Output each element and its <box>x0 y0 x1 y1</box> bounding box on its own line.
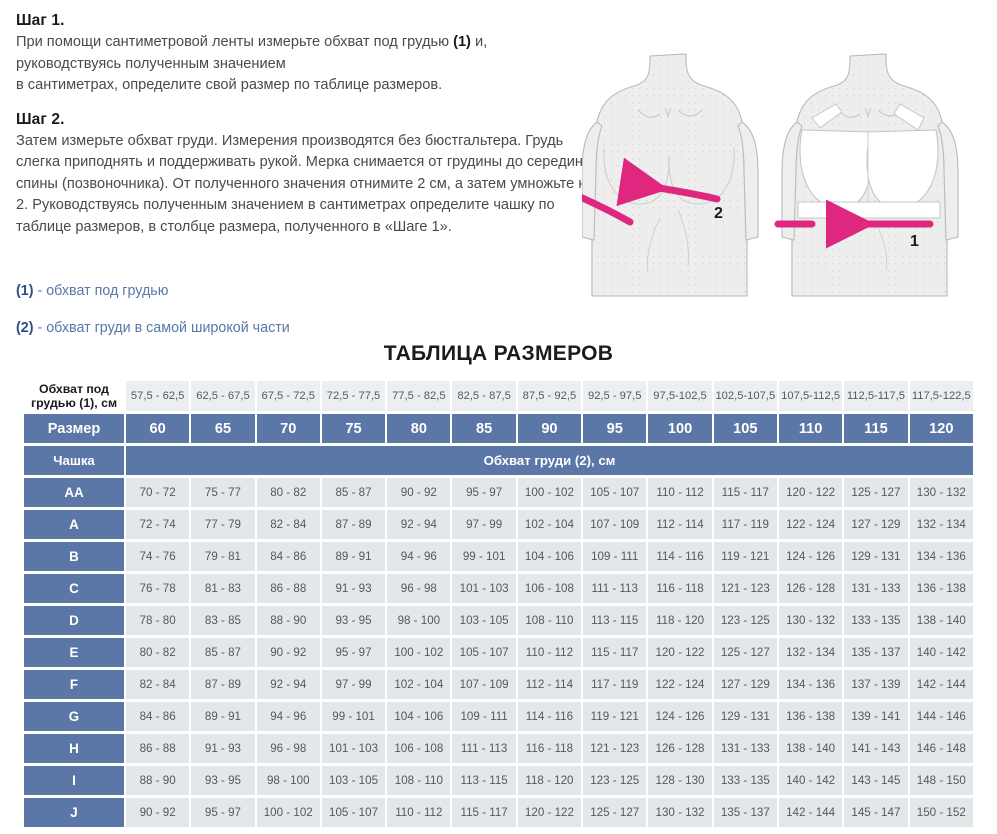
instruction-area: Шаг 1. При помощи сантиметровой ленты из… <box>0 0 997 340</box>
bust-range-cell: 92 - 94 <box>257 670 320 699</box>
bust-range-cell: 130 - 132 <box>779 606 842 635</box>
bust-range-cell: 116 - 118 <box>648 574 711 603</box>
cup-label-cell: C <box>24 574 124 603</box>
bust-range-cell: 126 - 128 <box>779 574 842 603</box>
size-cell: 115 <box>844 414 907 443</box>
table-row: J90 - 9295 - 97100 - 102105 - 107110 - 1… <box>24 798 973 827</box>
bust-range-cell: 106 - 108 <box>387 734 450 763</box>
bust-range-cell: 148 - 150 <box>910 766 973 795</box>
cup-header-label: Чашка <box>24 446 124 475</box>
row-sizes: Размер 60 65 70 75 80 85 90 95 100 105 1… <box>24 414 973 443</box>
bust-range-cell: 82 - 84 <box>257 510 320 539</box>
underbust-range-cell: 97,5-102,5 <box>648 381 711 411</box>
bust-range-cell: 129 - 131 <box>714 702 777 731</box>
bust-range-cell: 97 - 99 <box>452 510 515 539</box>
size-cell: 90 <box>518 414 581 443</box>
bust-range-cell: 141 - 143 <box>844 734 907 763</box>
bust-range-cell: 136 - 138 <box>910 574 973 603</box>
bust-range-cell: 96 - 98 <box>387 574 450 603</box>
bust-range-cell: 111 - 113 <box>452 734 515 763</box>
step-1-title: Шаг 1. <box>16 12 596 30</box>
bust-range-cell: 95 - 97 <box>191 798 254 827</box>
bust-range-cell: 93 - 95 <box>191 766 254 795</box>
bust-range-cell: 122 - 124 <box>648 670 711 699</box>
bust-range-cell: 131 - 133 <box>714 734 777 763</box>
bust-range-cell: 98 - 100 <box>257 766 320 795</box>
bust-range-cell: 101 - 103 <box>452 574 515 603</box>
bust-range-cell: 134 - 136 <box>910 542 973 571</box>
bust-range-cell: 105 - 107 <box>452 638 515 667</box>
step-1-line-1a: При помощи сантиметровой ленты измерьте … <box>16 34 453 50</box>
figure-bra-torso: 1 <box>778 54 958 296</box>
bust-range-cell: 128 - 130 <box>648 766 711 795</box>
figure-right-label: 1 <box>910 233 919 250</box>
bust-range-cell: 91 - 93 <box>191 734 254 763</box>
bust-range-cell: 136 - 138 <box>779 702 842 731</box>
bust-range-cell: 129 - 131 <box>844 542 907 571</box>
step-1-line-1b: и, <box>471 34 487 50</box>
bust-range-cell: 86 - 88 <box>126 734 189 763</box>
bust-range-cell: 85 - 87 <box>322 478 385 507</box>
bust-range-cell: 127 - 129 <box>714 670 777 699</box>
table-row: C76 - 7881 - 8386 - 8891 - 9396 - 98101 … <box>24 574 973 603</box>
bust-range-cell: 90 - 92 <box>387 478 450 507</box>
legend-block: (1) - обхват под грудью (2) - обхват гру… <box>16 283 576 357</box>
bust-range-cell: 132 - 134 <box>910 510 973 539</box>
bust-range-cell: 95 - 97 <box>452 478 515 507</box>
bust-range-cell: 86 - 88 <box>257 574 320 603</box>
underbust-range-cell: 72,5 - 77,5 <box>322 381 385 411</box>
legend-text-2: - обхват груди в самой широкой части <box>33 320 289 336</box>
size-cell: 120 <box>910 414 973 443</box>
bust-range-cell: 114 - 116 <box>518 702 581 731</box>
underbust-range-cell: 117,5-122,5 <box>910 381 973 411</box>
bust-range-cell: 143 - 145 <box>844 766 907 795</box>
bust-range-cell: 133 - 135 <box>844 606 907 635</box>
cup-label-cell: F <box>24 670 124 699</box>
bust-range-cell: 119 - 121 <box>714 542 777 571</box>
bust-range-cell: 138 - 140 <box>779 734 842 763</box>
bust-range-cell: 92 - 94 <box>387 510 450 539</box>
table-row: F82 - 8487 - 8992 - 9497 - 99102 - 10410… <box>24 670 973 699</box>
bust-range-cell: 81 - 83 <box>191 574 254 603</box>
row-bust-span: Чашка Обхват груди (2), см <box>24 446 973 475</box>
bust-range-cell: 100 - 102 <box>387 638 450 667</box>
legend-item-2: (2) - обхват груди в самой широкой части <box>16 320 576 336</box>
bust-range-cell: 93 - 95 <box>322 606 385 635</box>
bust-range-cell: 124 - 126 <box>779 542 842 571</box>
bust-range-cell: 80 - 82 <box>126 638 189 667</box>
bust-range-cell: 109 - 111 <box>452 702 515 731</box>
bust-range-cell: 89 - 91 <box>322 542 385 571</box>
cup-label-cell: I <box>24 766 124 795</box>
bust-range-cell: 134 - 136 <box>779 670 842 699</box>
bust-range-cell: 118 - 120 <box>518 766 581 795</box>
size-cell: 105 <box>714 414 777 443</box>
bust-range-cell: 102 - 104 <box>518 510 581 539</box>
table-row: AA70 - 7275 - 7780 - 8285 - 8790 - 9295 … <box>24 478 973 507</box>
bust-range-cell: 113 - 115 <box>583 606 646 635</box>
table-row: I88 - 9093 - 9598 - 100103 - 105108 - 11… <box>24 766 973 795</box>
table-row: H86 - 8891 - 9396 - 98101 - 103106 - 108… <box>24 734 973 763</box>
legend-item-1: (1) - обхват под грудью <box>16 283 576 299</box>
bust-range-cell: 107 - 109 <box>452 670 515 699</box>
step-2-block: Шаг 2. Затем измерьте обхват груди. Изме… <box>16 111 596 239</box>
step-1-line-3: в сантиметрах, определите свой размер по… <box>16 77 442 93</box>
cup-label-cell: E <box>24 638 124 667</box>
bust-range-cell: 119 - 121 <box>583 702 646 731</box>
bust-range-cell: 76 - 78 <box>126 574 189 603</box>
bust-range-cell: 102 - 104 <box>387 670 450 699</box>
bust-range-cell: 90 - 92 <box>257 638 320 667</box>
size-table-wrap: Обхват под грудью (1), см 57,5 - 62,5 62… <box>0 378 997 830</box>
bust-range-cell: 97 - 99 <box>322 670 385 699</box>
underbust-range-cell: 107,5-112,5 <box>779 381 842 411</box>
bust-range-cell: 140 - 142 <box>910 638 973 667</box>
bust-range-cell: 120 - 122 <box>518 798 581 827</box>
bust-range-cell: 98 - 100 <box>387 606 450 635</box>
underbust-range-cell: 102,5-107,5 <box>714 381 777 411</box>
underbust-range-cell: 82,5 - 87,5 <box>452 381 515 411</box>
bust-range-cell: 140 - 142 <box>779 766 842 795</box>
bust-range-cell: 110 - 112 <box>518 638 581 667</box>
bust-range-cell: 89 - 91 <box>191 702 254 731</box>
table-row: B74 - 7679 - 8184 - 8689 - 9194 - 9699 -… <box>24 542 973 571</box>
bust-range-cell: 82 - 84 <box>126 670 189 699</box>
bust-range-cell: 74 - 76 <box>126 542 189 571</box>
row-underbust-ranges: Обхват под грудью (1), см 57,5 - 62,5 62… <box>24 381 973 411</box>
bust-range-cell: 117 - 119 <box>583 670 646 699</box>
cup-label-cell: J <box>24 798 124 827</box>
bust-range-cell: 84 - 86 <box>126 702 189 731</box>
bust-range-cell: 99 - 101 <box>452 542 515 571</box>
underbust-range-cell: 112,5-117,5 <box>844 381 907 411</box>
bust-range-cell: 104 - 106 <box>387 702 450 731</box>
cup-label-cell: G <box>24 702 124 731</box>
underbust-range-cell: 77,5 - 82,5 <box>387 381 450 411</box>
figure-left-label: 2 <box>714 205 723 222</box>
step-1-block: Шаг 1. При помощи сантиметровой ленты из… <box>16 12 596 97</box>
bust-range-cell: 120 - 122 <box>648 638 711 667</box>
bust-range-cell: 132 - 134 <box>779 638 842 667</box>
table-row: A72 - 7477 - 7982 - 8487 - 8992 - 9497 -… <box>24 510 973 539</box>
step-1-ref-1: (1) <box>453 34 471 50</box>
bust-range-cell: 125 - 127 <box>583 798 646 827</box>
bust-span-label: Обхват груди (2), см <box>126 446 973 475</box>
bust-range-cell: 124 - 126 <box>648 702 711 731</box>
size-cell: 65 <box>191 414 254 443</box>
bust-range-cell: 113 - 115 <box>452 766 515 795</box>
table-row: G84 - 8689 - 9194 - 9699 - 101104 - 1061… <box>24 702 973 731</box>
step-1-body: При помощи сантиметровой ленты измерьте … <box>16 32 596 97</box>
bust-range-cell: 94 - 96 <box>257 702 320 731</box>
size-cell: 75 <box>322 414 385 443</box>
bust-range-cell: 121 - 123 <box>583 734 646 763</box>
size-cell: 70 <box>257 414 320 443</box>
bust-range-cell: 131 - 133 <box>844 574 907 603</box>
bust-range-cell: 142 - 144 <box>779 798 842 827</box>
bust-range-cell: 85 - 87 <box>191 638 254 667</box>
step-1-line-2: руководствуясь полученным значением <box>16 56 286 72</box>
bust-range-cell: 110 - 112 <box>387 798 450 827</box>
bust-range-cell: 103 - 105 <box>322 766 385 795</box>
instructions-block: Шаг 1. При помощи сантиметровой ленты из… <box>16 12 596 252</box>
bust-range-cell: 107 - 109 <box>583 510 646 539</box>
bust-range-cell: 135 - 137 <box>844 638 907 667</box>
bust-range-cell: 99 - 101 <box>322 702 385 731</box>
bust-range-cell: 112 - 114 <box>518 670 581 699</box>
bust-range-cell: 142 - 144 <box>910 670 973 699</box>
bust-range-cell: 123 - 125 <box>714 606 777 635</box>
bust-range-cell: 108 - 110 <box>387 766 450 795</box>
bust-range-cell: 139 - 141 <box>844 702 907 731</box>
table-row: E80 - 8285 - 8790 - 9295 - 97100 - 10210… <box>24 638 973 667</box>
underbust-header-label: Обхват под грудью (1), см <box>24 381 124 411</box>
bust-range-cell: 84 - 86 <box>257 542 320 571</box>
bust-range-cell: 88 - 90 <box>257 606 320 635</box>
bust-range-cell: 106 - 108 <box>518 574 581 603</box>
bust-range-cell: 126 - 128 <box>648 734 711 763</box>
underbust-range-cell: 67,5 - 72,5 <box>257 381 320 411</box>
bust-range-cell: 95 - 97 <box>322 638 385 667</box>
bust-range-cell: 79 - 81 <box>191 542 254 571</box>
measurement-illustrations: 2 <box>582 52 992 302</box>
cup-label-cell: A <box>24 510 124 539</box>
size-cell: 110 <box>779 414 842 443</box>
cup-label-cell: AA <box>24 478 124 507</box>
underbust-range-cell: 57,5 - 62,5 <box>126 381 189 411</box>
bust-range-cell: 146 - 148 <box>910 734 973 763</box>
bust-range-cell: 135 - 137 <box>714 798 777 827</box>
bust-range-cell: 130 - 132 <box>910 478 973 507</box>
bust-range-cell: 110 - 112 <box>648 478 711 507</box>
size-header-label: Размер <box>24 414 124 443</box>
bust-range-cell: 133 - 135 <box>714 766 777 795</box>
bust-range-cell: 137 - 139 <box>844 670 907 699</box>
figure-bare-torso: 2 <box>582 54 758 296</box>
bust-range-cell: 130 - 132 <box>648 798 711 827</box>
bust-range-cell: 83 - 85 <box>191 606 254 635</box>
bust-range-cell: 105 - 107 <box>583 478 646 507</box>
bust-range-cell: 114 - 116 <box>648 542 711 571</box>
bust-range-cell: 77 - 79 <box>191 510 254 539</box>
cup-label-cell: B <box>24 542 124 571</box>
bust-range-cell: 112 - 114 <box>648 510 711 539</box>
bust-range-cell: 111 - 113 <box>583 574 646 603</box>
bust-range-cell: 75 - 77 <box>191 478 254 507</box>
legend-marker-2: (2) <box>16 320 33 336</box>
bust-range-cell: 94 - 96 <box>387 542 450 571</box>
bust-range-cell: 145 - 147 <box>844 798 907 827</box>
size-cell: 60 <box>126 414 189 443</box>
bust-range-cell: 115 - 117 <box>714 478 777 507</box>
bust-range-cell: 144 - 146 <box>910 702 973 731</box>
bust-range-cell: 100 - 102 <box>518 478 581 507</box>
size-cell: 85 <box>452 414 515 443</box>
cup-label-cell: H <box>24 734 124 763</box>
bust-range-cell: 117 - 119 <box>714 510 777 539</box>
bust-range-cell: 125 - 127 <box>714 638 777 667</box>
size-cell: 100 <box>648 414 711 443</box>
bust-range-cell: 108 - 110 <box>518 606 581 635</box>
bust-range-cell: 125 - 127 <box>844 478 907 507</box>
bust-range-cell: 121 - 123 <box>714 574 777 603</box>
bust-range-cell: 88 - 90 <box>126 766 189 795</box>
bust-range-cell: 115 - 117 <box>583 638 646 667</box>
bust-range-cell: 138 - 140 <box>910 606 973 635</box>
legend-marker-1: (1) <box>16 283 33 299</box>
size-table-body: Обхват под грудью (1), см 57,5 - 62,5 62… <box>24 381 973 827</box>
size-table: Обхват под грудью (1), см 57,5 - 62,5 62… <box>22 378 975 830</box>
legend-text-1: - обхват под грудью <box>33 283 168 299</box>
bust-range-cell: 105 - 107 <box>322 798 385 827</box>
underbust-range-cell: 87,5 - 92,5 <box>518 381 581 411</box>
bust-range-cell: 118 - 120 <box>648 606 711 635</box>
cup-label-cell: D <box>24 606 124 635</box>
bust-range-cell: 70 - 72 <box>126 478 189 507</box>
size-cell: 80 <box>387 414 450 443</box>
bust-range-cell: 100 - 102 <box>257 798 320 827</box>
bust-range-cell: 120 - 122 <box>779 478 842 507</box>
bust-range-cell: 101 - 103 <box>322 734 385 763</box>
bust-range-cell: 96 - 98 <box>257 734 320 763</box>
bust-range-cell: 87 - 89 <box>322 510 385 539</box>
bust-range-cell: 115 - 117 <box>452 798 515 827</box>
step-2-title: Шаг 2. <box>16 111 596 129</box>
bust-range-cell: 78 - 80 <box>126 606 189 635</box>
bust-range-cell: 72 - 74 <box>126 510 189 539</box>
bust-range-cell: 80 - 82 <box>257 478 320 507</box>
bust-range-cell: 109 - 111 <box>583 542 646 571</box>
bust-range-cell: 116 - 118 <box>518 734 581 763</box>
underbust-range-cell: 92,5 - 97,5 <box>583 381 646 411</box>
size-cell: 95 <box>583 414 646 443</box>
bust-range-cell: 91 - 93 <box>322 574 385 603</box>
table-row: D78 - 8083 - 8588 - 9093 - 9598 - 100103… <box>24 606 973 635</box>
bust-range-cell: 104 - 106 <box>518 542 581 571</box>
bust-range-cell: 103 - 105 <box>452 606 515 635</box>
bust-range-cell: 90 - 92 <box>126 798 189 827</box>
bust-range-cell: 123 - 125 <box>583 766 646 795</box>
bust-range-cell: 87 - 89 <box>191 670 254 699</box>
bust-range-cell: 150 - 152 <box>910 798 973 827</box>
step-2-body: Затем измерьте обхват груди. Измерения п… <box>16 131 596 239</box>
bust-range-cell: 122 - 124 <box>779 510 842 539</box>
underbust-range-cell: 62,5 - 67,5 <box>191 381 254 411</box>
bust-range-cell: 127 - 129 <box>844 510 907 539</box>
